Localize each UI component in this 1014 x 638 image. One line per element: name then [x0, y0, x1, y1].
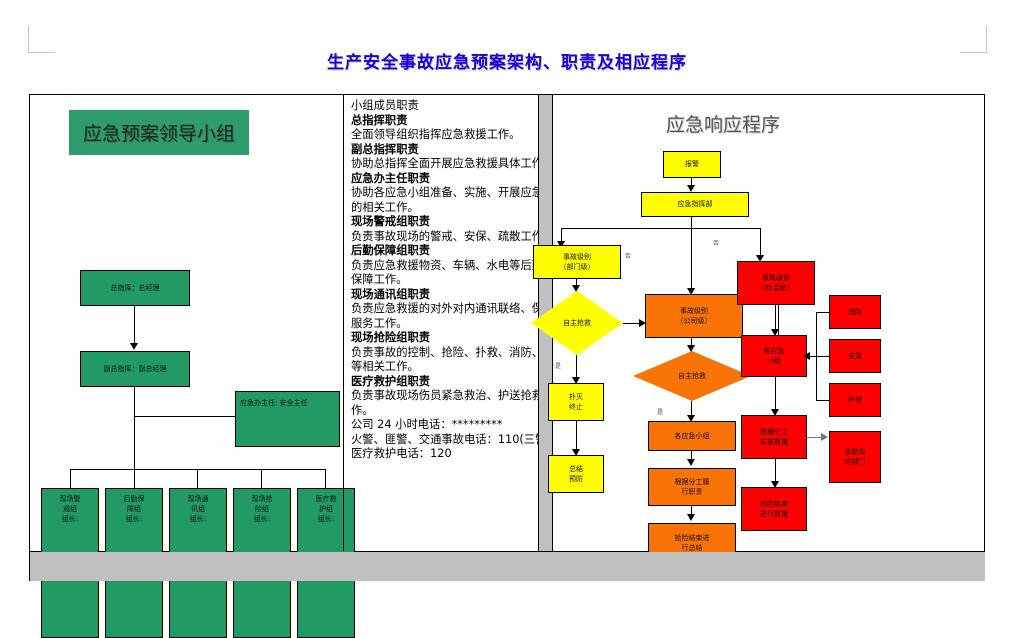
node-teams-company: 各应急小组 [648, 421, 736, 451]
decision-label-dept: 自主抢救 [563, 318, 591, 328]
right-panel-header: 应急响应程序 [623, 107, 823, 139]
node-level-social: 事故级别 （社会级） [737, 261, 815, 305]
node-chief-commander: 总指挥：总经理 [80, 270, 190, 306]
connector-env-left [816, 400, 829, 401]
node-alarm: 报警 [663, 151, 721, 178]
node-environmental-protection: 环保 [829, 383, 881, 417]
node-teams-social: 各应急 小组 [741, 335, 807, 377]
node-assist-government: 协助政 府部门 [829, 431, 881, 483]
decision-label-company: 自主抢救 [678, 371, 706, 381]
edge-label-yes-dept: 是 [555, 361, 561, 370]
connector-drop-5 [325, 469, 326, 488]
connector-deputy-spine [134, 387, 135, 469]
node-safety-supervision: 安监 [829, 339, 881, 373]
connector-social-teams-to-rescue [775, 377, 776, 413]
connector-drop-2 [134, 469, 135, 488]
arrow-down-to-deputy [130, 343, 138, 350]
edge-label-yes-company: 是 [657, 407, 663, 416]
node-emergency-office-director: 应急办主任: 安全主任 [235, 391, 340, 447]
connector-command-down [691, 217, 692, 228]
connector-drop-3 [197, 469, 198, 488]
connector-to-office-director [134, 416, 235, 417]
arrow-rescue-to-gov [821, 433, 828, 441]
node-command-center: 应急指挥部 [641, 192, 749, 217]
responsibilities-cell: 小组成员职责总指挥职责全面领导组织指挥应急救援工作。副总指挥职责协助总指挥全面开… [345, 95, 539, 551]
page-title: 生产安全事故应急预案架构、职责及相应程序 [0, 48, 1014, 73]
document-page: 生产安全事故应急预案架构、职责及相应程序 应急预案领导小组 总指挥：总经理 副总… [0, 0, 1014, 599]
arrow-alarm-to-command [687, 185, 695, 192]
bottom-shaded-band [29, 552, 985, 581]
node-rescue-social: 根据分工 实施救援 [741, 415, 807, 459]
left-column: 应急预案领导小组 总指挥：总经理 副总指挥：副总经理 应急办主任: 安全主任 现… [30, 95, 539, 551]
decision-self-rescue-dept: 自主抢救 [531, 291, 623, 355]
node-level-department: 事故级别 （部门级） [533, 245, 621, 279]
connector-fire-left [816, 312, 829, 313]
node-duties-company: 根据分工履 行职责 [648, 468, 736, 506]
right-column: 应急响应程序 报警 应急指挥部 事故级别 （部门级） 自主抢救 [553, 95, 984, 551]
connector-command-bus [561, 228, 761, 229]
node-extinguish-terminate: 扑灭 终止 [548, 383, 604, 421]
node-deputy-commander: 副总指挥：副总经理 [80, 351, 190, 387]
edge-label-no-social: 否 [713, 238, 719, 247]
arrow-duties-to-end [687, 514, 695, 521]
node-level-company: 事故级别 （公司级） [645, 294, 743, 338]
node-end-social: 抢险结束 进行救援 [741, 487, 807, 531]
arrow-teams-to-duties [687, 459, 695, 466]
connector-branch-company [691, 228, 692, 292]
content-table: 应急预案领导小组 总指挥：总经理 副总指挥：副总经理 应急办主任: 安全主任 现… [29, 94, 985, 552]
connector-drop-4 [261, 469, 262, 488]
arrow-support-to-teams [803, 352, 810, 360]
connector-support-to-teams [809, 356, 829, 357]
edge-label-no-dept: 否 [625, 251, 631, 260]
node-fire-department: 消防 [829, 295, 881, 329]
node-summary-prevention: 总结 预防 [548, 455, 604, 493]
connector-chief-to-deputy [134, 306, 135, 346]
left-panel-header: 应急预案领导小组 [69, 110, 249, 155]
connector-drop-1 [70, 469, 71, 488]
decision-self-rescue-company: 自主抢救 [633, 351, 751, 401]
